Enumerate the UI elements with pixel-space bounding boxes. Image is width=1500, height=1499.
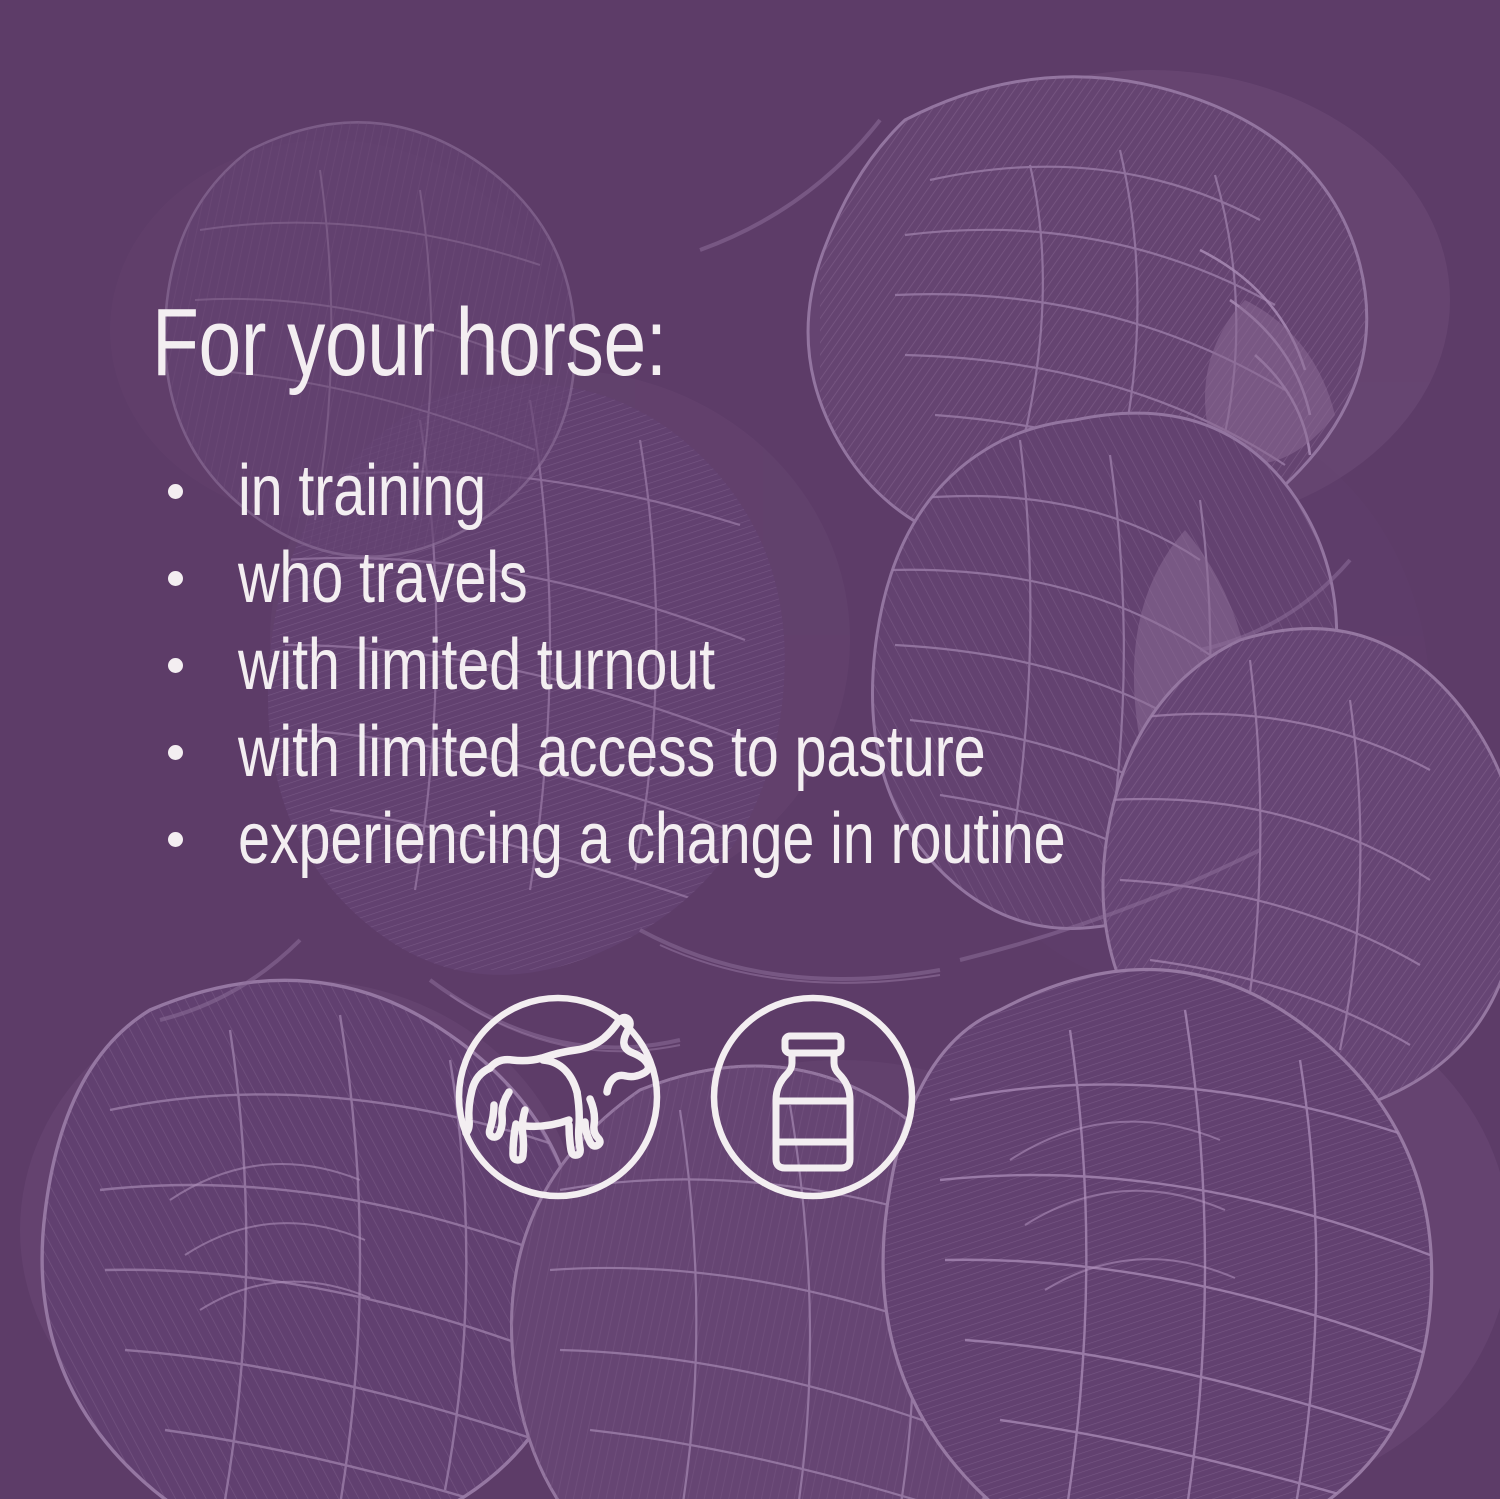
list-item-label: experiencing a change in routine bbox=[238, 803, 1065, 875]
list-item: in training bbox=[168, 447, 1272, 534]
list-item-label: with limited access to pasture bbox=[238, 716, 986, 788]
bullet-dot-icon bbox=[168, 658, 183, 673]
list-item: with limited access to pasture bbox=[168, 708, 1272, 795]
list-item-label: in training bbox=[238, 455, 486, 527]
horse-icon-badge bbox=[453, 992, 663, 1202]
list-item: experiencing a change in routine bbox=[168, 795, 1272, 882]
list-item-label: with limited turnout bbox=[238, 629, 715, 701]
bullet-dot-icon bbox=[168, 745, 183, 760]
list-item: who travels bbox=[168, 534, 1272, 621]
list-item-label: who travels bbox=[238, 542, 528, 614]
benefit-list: in training who travels with limited tur… bbox=[168, 447, 1272, 882]
bullet-dot-icon bbox=[168, 571, 183, 586]
horse-icon bbox=[453, 992, 663, 1202]
page-title: For your horse: bbox=[152, 295, 667, 391]
bullet-dot-icon bbox=[168, 484, 183, 499]
promo-card: For your horse: in training who travels … bbox=[0, 0, 1500, 1499]
list-item: with limited turnout bbox=[168, 621, 1272, 708]
supplement-bottle-icon bbox=[708, 992, 918, 1202]
bullet-dot-icon bbox=[168, 832, 183, 847]
icon-row bbox=[453, 992, 918, 1202]
supplement-bottle-icon-badge bbox=[708, 992, 918, 1202]
